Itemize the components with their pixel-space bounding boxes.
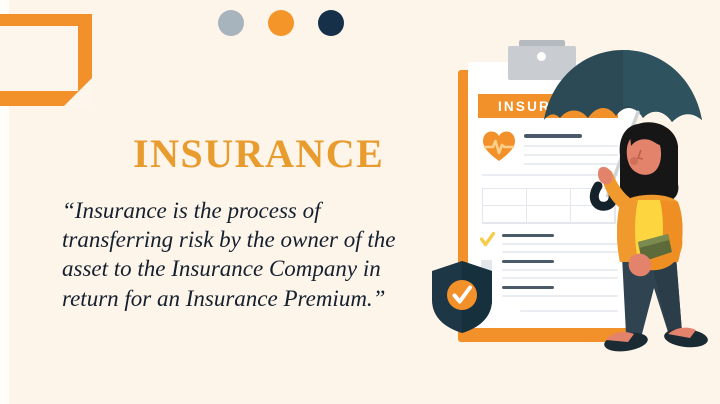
table-cell [483, 206, 527, 223]
checklist-line-strong-1 [502, 234, 554, 237]
slide-canvas: INSURANCE “Insurance is the process of t… [0, 0, 720, 404]
quote-text: “Insurance is the process of transferrin… [62, 196, 432, 313]
speech-bubble-logo [0, 14, 100, 106]
checklist-line-strong-2 [502, 260, 554, 263]
table-cell [483, 189, 527, 206]
dot-orange [268, 10, 294, 36]
dot-gray [218, 10, 244, 36]
checklist-line-strong-3 [502, 286, 554, 289]
page-title: INSURANCE [133, 130, 384, 177]
heart-pulse-icon [482, 130, 516, 162]
insurance-illustration: INSURANCE [420, 28, 720, 376]
dot-navy [318, 10, 344, 36]
woman-with-umbrella [598, 106, 714, 376]
logo-right-gap [92, 14, 101, 106]
decorative-dots [218, 10, 344, 36]
shield-check-icon [430, 260, 494, 334]
checklist-check-icon [480, 232, 495, 247]
